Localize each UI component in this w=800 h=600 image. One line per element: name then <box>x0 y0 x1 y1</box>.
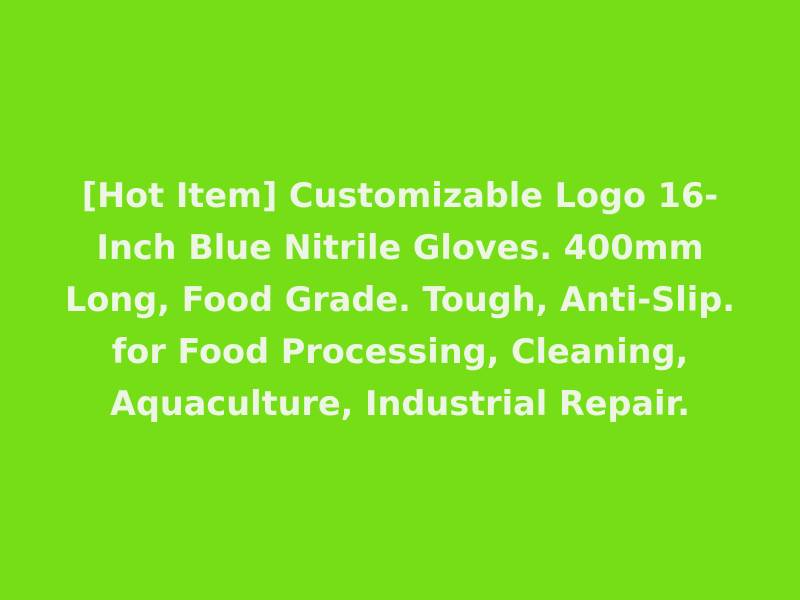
title-block: [Hot Item] Customizable Logo 16-Inch Blu… <box>50 170 750 430</box>
product-title: [Hot Item] Customizable Logo 16-Inch Blu… <box>50 170 750 430</box>
product-title-card: [Hot Item] Customizable Logo 16-Inch Blu… <box>0 0 800 600</box>
